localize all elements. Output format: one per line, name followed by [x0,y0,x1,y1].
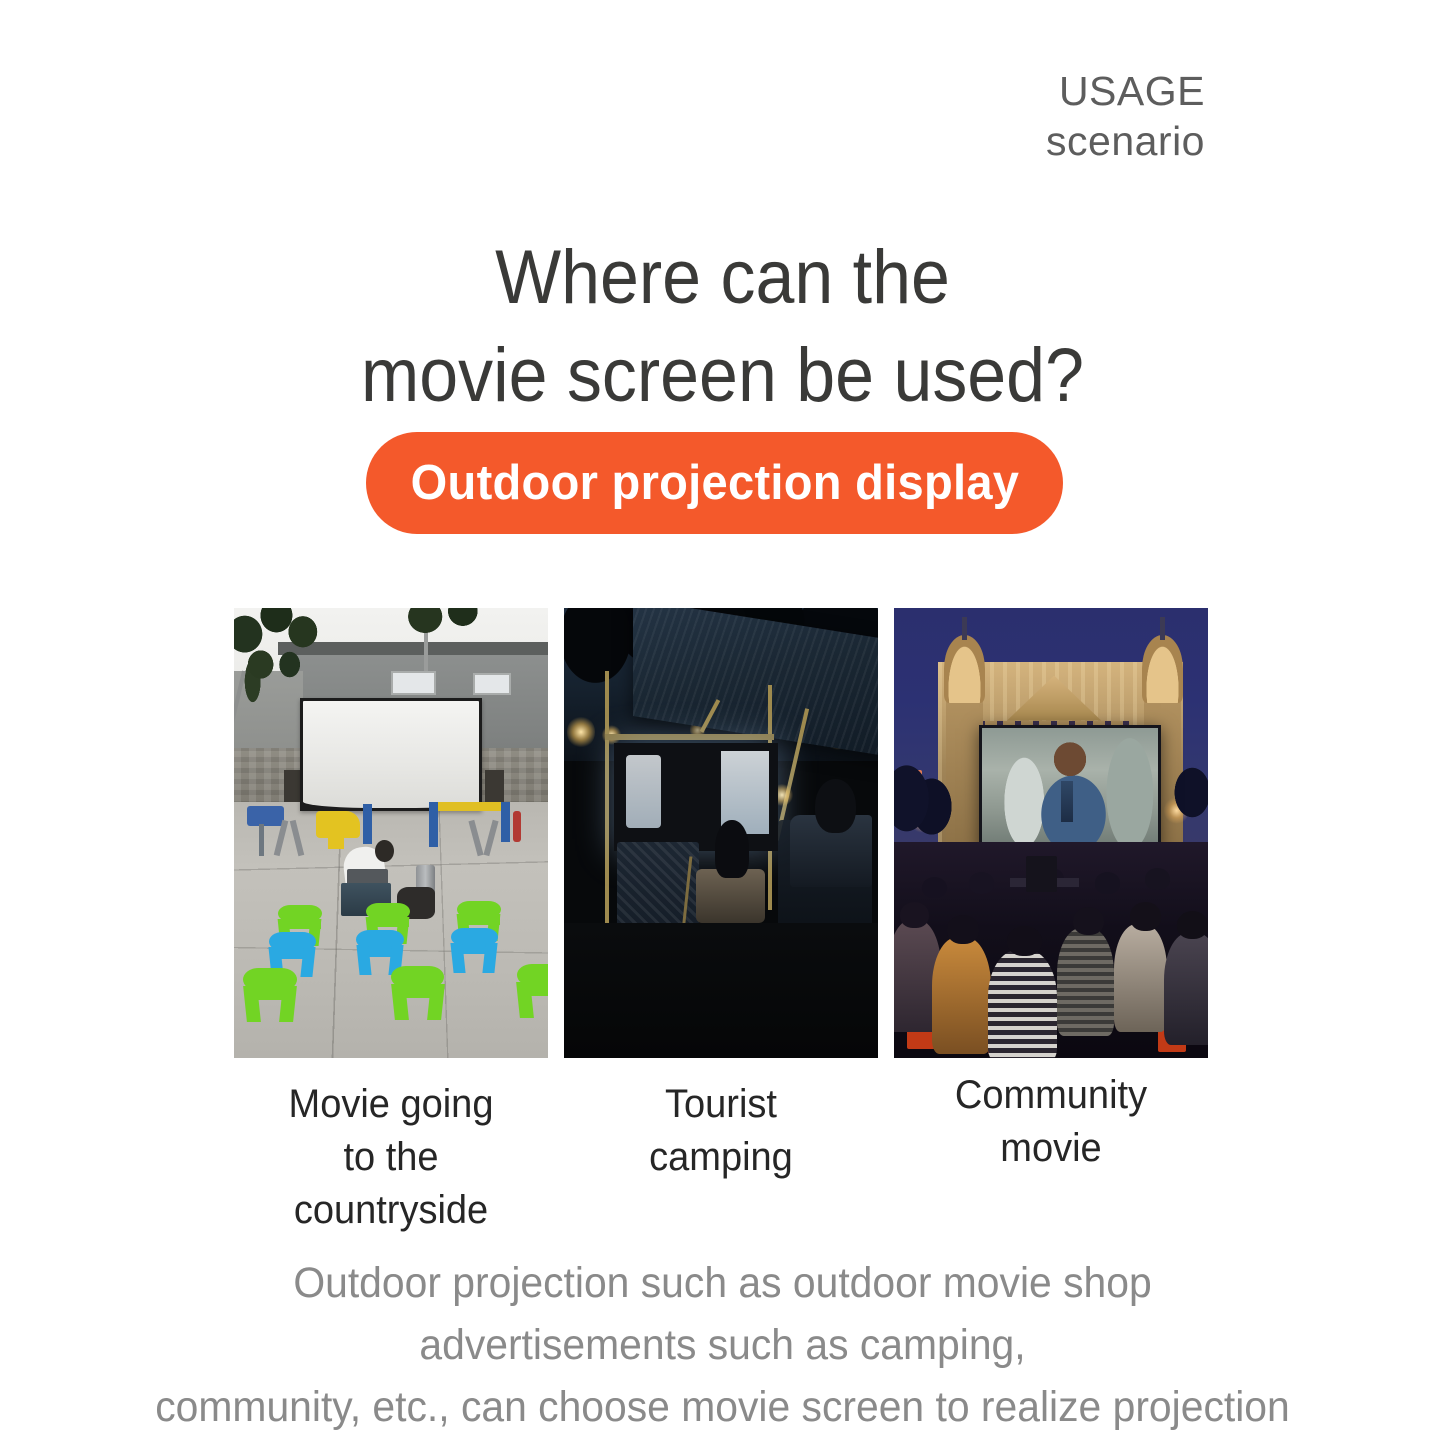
audience-body-striped [932,937,992,1054]
audience-head [1095,872,1120,894]
audience-head [900,902,928,928]
seated-child-head [715,820,750,879]
audience-body [1164,933,1208,1045]
window-left [391,671,436,695]
audience-head [922,877,947,899]
equipment-red [513,811,521,843]
screen-support-rail [605,734,775,740]
gallery-item-camping [564,608,878,1058]
stool-green [517,964,548,1018]
playground-bar [429,802,511,812]
gallery-captions: Movie going to the countryside Tourist c… [234,1078,1208,1198]
caption-community: Community movie [902,1069,1200,1198]
projection-screen-large [979,725,1161,851]
audience-body-plaid [1057,928,1114,1036]
projected-film-image [982,728,1158,848]
stool-blue [451,928,498,973]
page-title-line-1: Where can the [58,229,1387,327]
bar-post-left [429,802,438,847]
description-line-1: Outdoor projection such as outdoor movie… [36,1252,1409,1314]
caption-line-2: camping [572,1131,870,1184]
audience-head [947,915,978,943]
caption-camping: Tourist camping [572,1078,870,1198]
audience-head [1007,926,1042,956]
gallery-item-countryside [234,608,548,1058]
audience-body [1114,924,1167,1032]
photo-camping-projection [564,608,878,1058]
caption-line-1: Tourist [572,1078,870,1131]
audience-head [1177,911,1208,939]
dark-ground [564,923,878,1058]
description-paragraph: Outdoor projection such as outdoor movie… [36,1252,1409,1438]
tree-foliage-top [397,608,491,649]
outdoor-projection-display-badge: Outdoor projection display [366,432,1063,534]
doorway-right [485,770,504,802]
page-title-line-2: movie screen be used? [58,327,1387,425]
eyebrow-line-2: scenario [1046,116,1205,166]
caption-countryside: Movie going to the countryside [242,1078,540,1198]
canopy-pole-left [605,671,609,923]
window-right [473,673,512,695]
stool-green [243,968,296,1022]
audience-head [1145,868,1170,890]
badge-label: Outdoor projection display [410,455,1019,511]
projected-car-wheel-image [616,745,775,849]
audience-head [1073,907,1104,935]
equipment-post-a [259,824,264,856]
photo-countryside-projection [234,608,548,1058]
usage-scenario-gallery [234,608,1208,1058]
bar-post-right [501,802,510,843]
equipment-yellow-base [328,831,344,849]
caption-line-1: Movie going [242,1078,540,1131]
equipment-post-blue [363,804,372,845]
street-lamp-glow [567,716,595,748]
projection-screen-white [300,698,482,811]
caption-line-1: Community [902,1069,1200,1122]
building-dome-left [944,635,985,703]
caption-line-2: to the countryside [242,1131,540,1237]
description-line-3: community, etc., can choose movie screen… [36,1376,1409,1438]
audience-body-striped [988,950,1057,1058]
seated-adult-head [815,779,856,833]
playground-equipment-blue [247,806,285,826]
building-dome-right [1142,635,1183,703]
audience-head [969,872,994,894]
eyebrow-line-1: USAGE [1059,68,1205,114]
description-line-2: advertisements such as camping, [36,1314,1409,1376]
caption-line-2: movie [902,1122,1200,1175]
projection-screen-movie [614,743,777,851]
stool-green [391,966,444,1020]
dome-spire-right [1160,617,1164,640]
dome-spire-left [962,617,966,640]
projector-unit [1026,856,1057,892]
usage-scenario-eyebrow: USAGE scenario [1046,66,1205,166]
audience-head [1130,902,1161,930]
photo-community-projection [894,608,1208,1058]
page-title: Where can the movie screen be used? [58,229,1387,425]
gallery-item-community [894,608,1208,1058]
